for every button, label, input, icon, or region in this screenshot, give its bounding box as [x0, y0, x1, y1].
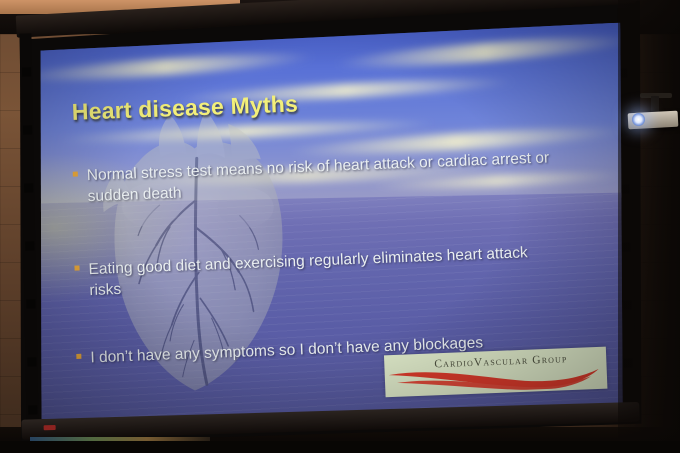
swoosh-icon: [384, 359, 607, 396]
bottom-edge-shadow: [0, 441, 680, 453]
bullet-item-1: Normal stress test means no risk of hear…: [86, 147, 557, 207]
cardiovascular-group-logo: CardioVascular Group: [384, 347, 607, 398]
bullet-marker-icon: [74, 265, 79, 270]
slide-title: Heart disease Myths: [71, 90, 298, 125]
screen-bar-marker: [44, 425, 56, 430]
projected-slide: Heart disease Myths Normal stress test m…: [34, 23, 627, 420]
bullet-item-2: Eating good diet and exercising regularl…: [88, 241, 559, 301]
right-wall-shadow: [618, 0, 680, 453]
bullet-marker-icon: [76, 354, 81, 359]
bullet-text-1: Normal stress test means no risk of hear…: [87, 149, 550, 205]
room-scene: Heart disease Myths Normal stress test m…: [0, 0, 680, 453]
bullet-marker-icon: [73, 171, 78, 176]
projector-lens-icon: [632, 113, 645, 126]
projection-screen: Heart disease Myths Normal stress test m…: [10, 0, 648, 451]
slide-content: Heart disease Myths Normal stress test m…: [34, 23, 627, 420]
bullet-text-2: Eating good diet and exercising regularl…: [88, 244, 528, 299]
